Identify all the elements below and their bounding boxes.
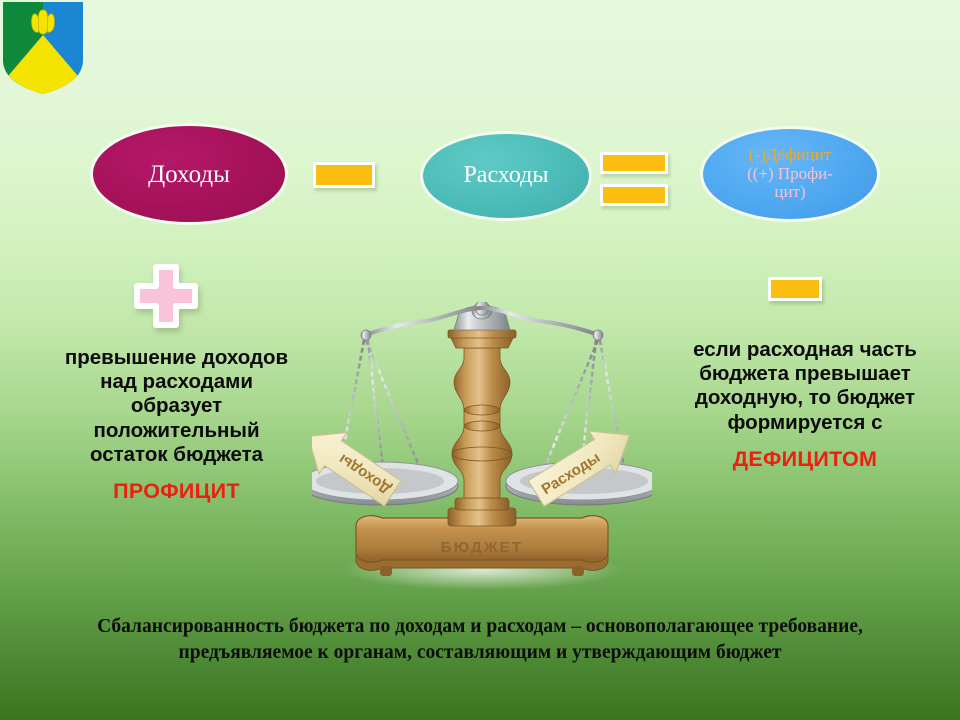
income-label: Доходы (148, 161, 230, 188)
minus-sign-icon-right (768, 277, 822, 301)
expense-label: Расходы (463, 163, 548, 189)
balance-scales-illustration: БЮДЖЕТ (312, 302, 652, 592)
result-ellipse: (-)Дефицит ((+) Профи- цит) (700, 126, 880, 222)
equals-sign-icon (600, 152, 668, 208)
scales-base-label: БЮДЖЕТ (441, 539, 524, 556)
expense-ellipse: Расходы (420, 131, 592, 221)
deficit-explanation-text: если расходная часть бюджета превышает д… (693, 338, 917, 434)
minus-sign-icon (313, 162, 375, 188)
coat-of-arms-emblem (3, 2, 83, 94)
equals-bar-bottom (600, 184, 668, 206)
plus-sign-shape (133, 264, 199, 328)
presentation-slide: Доходы Расходы (-)Дефицит ((+) Профи- ци… (0, 0, 960, 720)
slide-caption: Сбалансированность бюджета по доходам и … (60, 614, 900, 666)
income-ellipse: Доходы (90, 123, 288, 225)
balance-scales-icon: БЮДЖЕТ (312, 302, 652, 592)
result-line-profit-2: цит) (774, 183, 805, 201)
result-line-profit-1: ((+) Профи- (747, 165, 833, 183)
deficit-explanation-block: если расходная часть бюджета превышает д… (680, 338, 930, 472)
profit-explanation-block: превышение доходов над расходами образуе… (55, 346, 298, 504)
scales-column (452, 348, 512, 498)
deficit-keyword: ДЕФИЦИТОМ (680, 447, 930, 472)
plus-sign-icon (133, 264, 199, 328)
result-line-deficit: (-)Дефицит (749, 146, 831, 164)
coat-of-arms-icon (3, 2, 83, 94)
equals-bar-top (600, 152, 668, 174)
profit-explanation-text: превышение доходов над расходами образуе… (65, 346, 288, 466)
profit-keyword: ПРОФИЦИТ (55, 479, 298, 504)
